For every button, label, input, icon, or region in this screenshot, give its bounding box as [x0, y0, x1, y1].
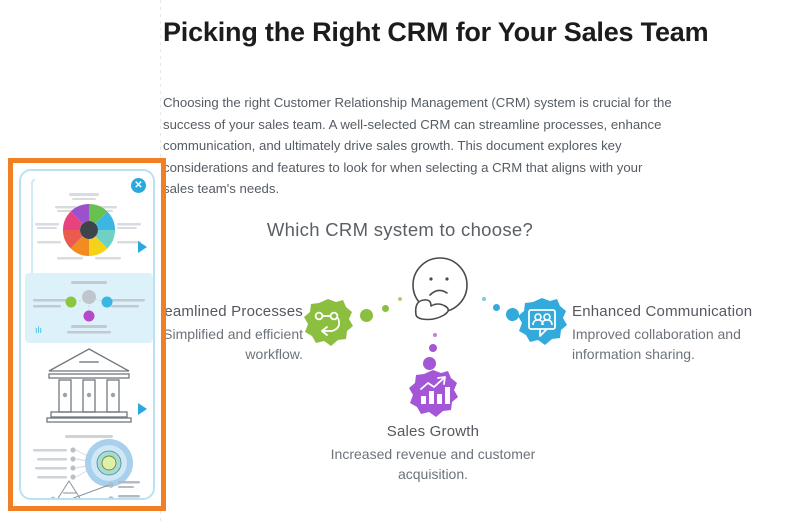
page-root: Picking the Right CRM for Your Sales Tea… [0, 0, 800, 523]
svg-text:ılı: ılı [35, 325, 42, 335]
node-title-sales-growth: Sales Growth [306, 423, 560, 440]
infographic-question: Which CRM system to choose? [120, 219, 680, 241]
connector-dot-green-3 [398, 297, 402, 301]
connector-dot-purple-1 [433, 333, 437, 337]
process-flow-icon [302, 298, 354, 348]
infographic-canvas: Which CRM system to choose? [120, 205, 800, 523]
list-item[interactable] [25, 471, 153, 500]
thumb-expand-arrow-icon[interactable] [138, 241, 147, 253]
list-item[interactable] [25, 189, 153, 271]
thinking-face-icon [400, 253, 476, 333]
list-item[interactable]: ılı [25, 273, 153, 343]
connector-dot-blue-2 [493, 304, 500, 311]
node-label-sales-growth: Sales Growth Increased revenue and custo… [306, 423, 560, 484]
node-desc-enhanced-communication: Improved collaboration and information s… [572, 324, 800, 364]
list-item[interactable] [25, 347, 153, 431]
connector-dot-purple-2 [429, 344, 437, 352]
bar-chart-growth-icon [407, 369, 459, 419]
node-label-enhanced-communication: Enhanced Communication Improved collabor… [572, 303, 800, 364]
node-title-enhanced-communication: Enhanced Communication [572, 303, 800, 320]
connector-dot-green-1 [360, 309, 373, 322]
page-title: Picking the Right CRM for Your Sales Tea… [163, 16, 783, 50]
slide-thumbnail-list: ✕ [19, 169, 155, 500]
connector-dot-blue-1 [482, 297, 486, 301]
slide-thumbnail-panel[interactable]: ✕ [8, 158, 166, 511]
node-desc-sales-growth: Increased revenue and customer acquisiti… [306, 444, 560, 484]
connector-dot-green-2 [382, 305, 389, 312]
intro-paragraph: Choosing the right Customer Relationship… [163, 92, 675, 200]
people-chat-icon [516, 297, 568, 347]
